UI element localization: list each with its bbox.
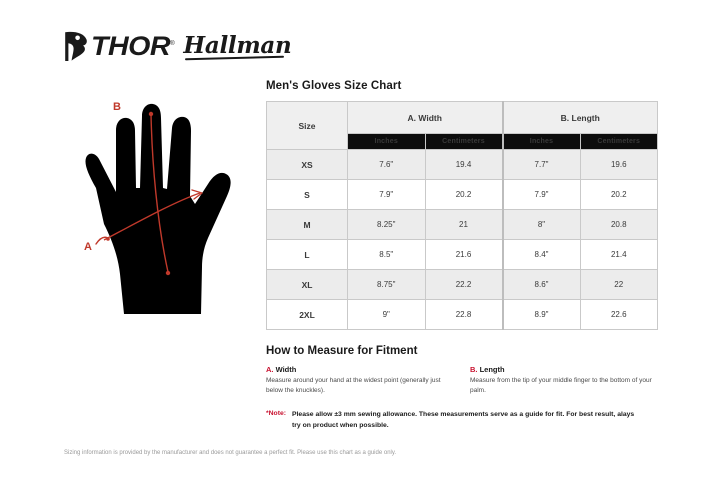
cell-length-centimeters: 19.6 <box>580 150 658 180</box>
cell-length-inches: 8" <box>503 210 581 240</box>
column-header-width-inches: Inches <box>348 134 426 150</box>
cell-width-inches: 7.6" <box>348 150 426 180</box>
hallman-wordmark: Hallman <box>183 32 291 59</box>
thor-wordmark: THOR® <box>91 33 174 60</box>
cell-size: M <box>267 210 348 240</box>
cell-length-inches: 8.9" <box>503 300 581 330</box>
cell-width-centimeters: 19.4 <box>425 150 503 180</box>
cell-length-inches: 7.9" <box>503 180 581 210</box>
table-row: S 7.9" 20.2 7.9" 20.2 <box>267 180 658 210</box>
measure-name-width: Width <box>274 365 297 374</box>
cell-width-centimeters: 22.2 <box>425 270 503 300</box>
brand-logo-row: THOR® Hallman <box>64 30 291 62</box>
cell-width-inches: 9" <box>348 300 426 330</box>
cell-size: L <box>267 240 348 270</box>
registered-trademark-icon: ® <box>170 41 174 47</box>
cell-width-centimeters: 21 <box>425 210 503 240</box>
column-header-width-centimeters: Centimeters <box>425 134 503 150</box>
length-line-start-dot <box>149 112 153 116</box>
cell-length-inches: 8.6" <box>503 270 581 300</box>
table-header: Size A. Width B. Length Inches Centimete… <box>267 102 658 150</box>
footer-disclaimer: Sizing information is provided by the ma… <box>64 448 404 458</box>
thor-logo: THOR® <box>64 30 169 62</box>
diagram-label-width: A <box>84 241 92 253</box>
cell-length-inches: 8.4" <box>503 240 581 270</box>
note-text: Please allow ±3 mm sewing allowance. The… <box>292 410 642 432</box>
cell-length-centimeters: 20.8 <box>580 210 658 240</box>
cell-size: XS <box>267 150 348 180</box>
cell-width-centimeters: 22.8 <box>425 300 503 330</box>
table-row: XS 7.6" 19.4 7.7" 19.6 <box>267 150 658 180</box>
measure-letter-a: A. <box>266 365 274 374</box>
measure-item-width-heading: A. Width <box>266 365 454 374</box>
table-row: XL 8.75" 22.2 8.6" 22 <box>267 270 658 300</box>
chart-column: Men's Gloves Size Chart Size A. Width B.… <box>266 80 658 432</box>
cell-length-centimeters: 22.6 <box>580 300 658 330</box>
how-to-measure-section: How to Measure for Fitment A. Width Meas… <box>266 345 658 432</box>
measure-name-length: Length <box>478 365 505 374</box>
measure-item-length-heading: B. Length <box>470 365 658 374</box>
column-group-length: B. Length <box>503 102 658 134</box>
cell-width-inches: 7.9" <box>348 180 426 210</box>
table-body: XS 7.6" 19.4 7.7" 19.6 S 7.9" 20.2 7.9" … <box>267 150 658 330</box>
table-row: M 8.25" 21 8" 20.8 <box>267 210 658 240</box>
cell-width-inches: 8.75" <box>348 270 426 300</box>
cell-width-centimeters: 20.2 <box>425 180 503 210</box>
measure-letter-b: B. <box>470 365 478 374</box>
note-label: *Note: <box>266 410 286 417</box>
table-row: L 8.5" 21.6 8.4" 21.4 <box>267 240 658 270</box>
note-row: *Note: Please allow ±3 mm sewing allowan… <box>266 410 658 432</box>
cell-length-centimeters: 22 <box>580 270 658 300</box>
cell-width-centimeters: 21.6 <box>425 240 503 270</box>
column-group-width: A. Width <box>348 102 503 134</box>
table-row: 2XL 9" 22.8 8.9" 22.6 <box>267 300 658 330</box>
table-header-row-groups: Size A. Width B. Length <box>267 102 658 134</box>
size-chart-page: THOR® Hallman <box>0 0 720 492</box>
cell-size: S <box>267 180 348 210</box>
cell-length-centimeters: 21.4 <box>580 240 658 270</box>
page-title: Men's Gloves Size Chart <box>266 80 658 92</box>
thor-helmet-icon <box>64 30 90 62</box>
column-header-length-inches: Inches <box>503 134 581 150</box>
column-header-length-centimeters: Centimeters <box>580 134 658 150</box>
hallman-logo: Hallman <box>183 34 291 57</box>
how-to-measure-title: How to Measure for Fitment <box>266 345 658 357</box>
column-header-size: Size <box>267 102 348 150</box>
hand-measurement-diagram: B A <box>58 92 268 332</box>
cell-size: 2XL <box>267 300 348 330</box>
size-chart-table: Size A. Width B. Length Inches Centimete… <box>266 101 658 330</box>
cell-length-centimeters: 20.2 <box>580 180 658 210</box>
cell-width-inches: 8.5" <box>348 240 426 270</box>
measure-item-width-text: Measure around your hand at the widest p… <box>266 376 454 396</box>
cell-length-inches: 7.7" <box>503 150 581 180</box>
length-line-end-dot <box>166 271 170 275</box>
diagram-label-length: B <box>113 101 121 113</box>
measure-item-length: B. Length Measure from the tip of your m… <box>470 365 658 396</box>
cell-size: XL <box>267 270 348 300</box>
measure-item-width: A. Width Measure around your hand at the… <box>266 365 454 396</box>
width-line-end-dot <box>106 237 110 241</box>
measure-item-length-text: Measure from the tip of your middle fing… <box>470 376 658 396</box>
cell-width-inches: 8.25" <box>348 210 426 240</box>
